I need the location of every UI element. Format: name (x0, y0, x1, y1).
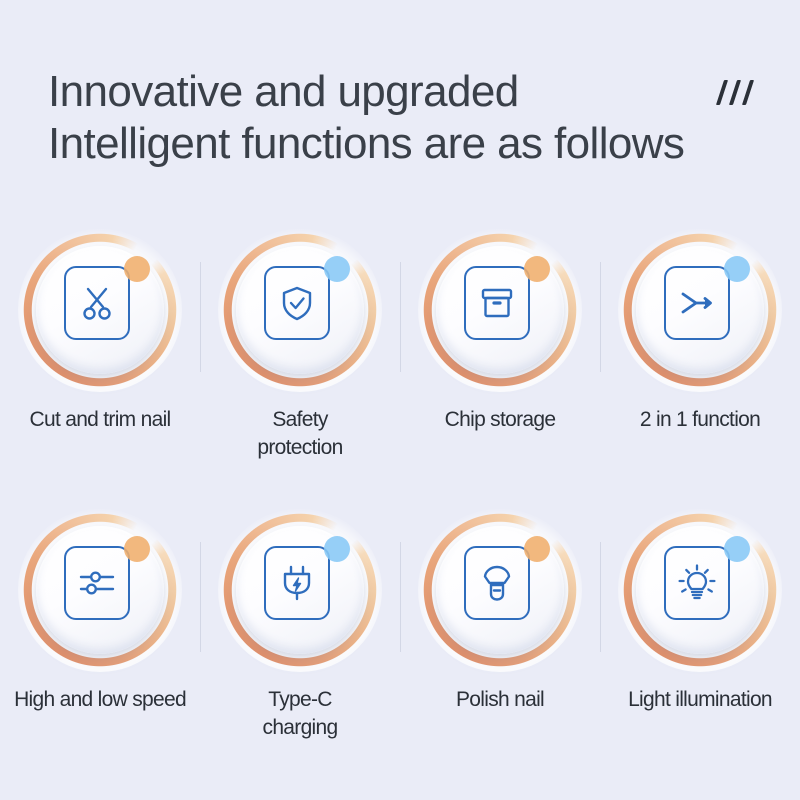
feature-badge (222, 232, 378, 388)
column-divider (400, 262, 401, 372)
accent-dot (324, 256, 350, 282)
feature-label: Chip storage (395, 406, 605, 434)
feature-item-polish-nail[interactable]: Polish nail (400, 506, 600, 786)
column-divider (200, 542, 201, 652)
feature-badge (422, 512, 578, 668)
icon-frame (664, 546, 730, 620)
accent-dot (124, 536, 150, 562)
page-title-line-1: Innovative and upgraded (48, 66, 772, 118)
shield-check-icon (277, 283, 317, 323)
feature-item-type-c-charging[interactable]: Type-C charging (200, 506, 400, 786)
slash-decoration-icon (718, 80, 766, 108)
feature-item-2-in-1-function[interactable]: 2 in 1 function (600, 226, 800, 506)
column-divider (400, 542, 401, 652)
icon-frame (264, 266, 330, 340)
storage-box-icon (477, 283, 517, 323)
feature-label: Light illumination (593, 686, 800, 714)
page-header: Innovative and upgraded Intelligent func… (0, 0, 800, 170)
polish-brush-icon (477, 563, 517, 603)
sliders-icon (77, 563, 117, 603)
accent-dot (724, 536, 750, 562)
accent-dot (524, 536, 550, 562)
feature-item-cut-and-trim-nail[interactable]: Cut and trim nail (0, 226, 200, 506)
accent-dot (124, 256, 150, 282)
icon-frame (264, 546, 330, 620)
feature-badge (622, 512, 778, 668)
feature-label: Type-C charging (195, 686, 405, 741)
feature-label: Cut and trim nail (0, 406, 210, 434)
accent-dot (724, 256, 750, 282)
column-divider (600, 542, 601, 652)
feature-item-light-illumination[interactable]: Light illumination (600, 506, 800, 786)
merge-arrow-icon (677, 283, 717, 323)
icon-frame (64, 266, 130, 340)
column-divider (200, 262, 201, 372)
feature-item-chip-storage[interactable]: Chip storage (400, 226, 600, 506)
icon-frame (464, 546, 530, 620)
feature-item-high-and-low-speed[interactable]: High and low speed (0, 506, 200, 786)
column-divider (600, 262, 601, 372)
icon-frame (64, 546, 130, 620)
page-title-line-2: Intelligent functions are as follows (48, 118, 772, 170)
power-plug-icon (277, 563, 317, 603)
feature-grid: Cut and trim nail Safety protection (0, 226, 800, 786)
page-title: Innovative and upgraded Intelligent func… (48, 66, 772, 170)
icon-frame (664, 266, 730, 340)
feature-badge (422, 232, 578, 388)
scissors-icon (77, 283, 117, 323)
accent-dot (524, 256, 550, 282)
light-bulb-icon (677, 563, 717, 603)
feature-badge (622, 232, 778, 388)
feature-label: Safety protection (195, 406, 405, 461)
icon-frame (464, 266, 530, 340)
feature-badge (22, 512, 178, 668)
feature-badge (222, 512, 378, 668)
feature-label: Polish nail (395, 686, 605, 714)
feature-badge (22, 232, 178, 388)
feature-label: 2 in 1 function (593, 406, 800, 434)
accent-dot (324, 536, 350, 562)
feature-item-safety-protection[interactable]: Safety protection (200, 226, 400, 506)
feature-label: High and low speed (0, 686, 210, 714)
